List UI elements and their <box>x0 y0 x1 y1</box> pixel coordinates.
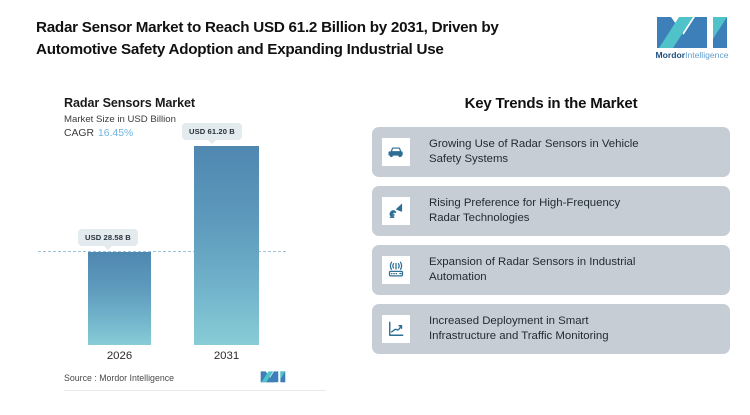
cagr-value: 16.45% <box>98 128 133 139</box>
trend-line-1: Rising Preference for High-Frequency <box>429 197 620 209</box>
chart-source: Source : Mordor Intelligence <box>64 373 334 383</box>
trend-card-high-frequency[interactable]: Rising Preference for High-Frequency Rad… <box>372 186 730 236</box>
trend-line-2: Radar Technologies <box>429 212 529 224</box>
mordor-logo-mark-icon <box>655 15 729 48</box>
panel-divider <box>64 390 326 391</box>
data-label-2031: USD 61.20 B <box>182 123 242 140</box>
page-title: Radar Sensor Market to Reach USD 61.2 Bi… <box>36 17 596 60</box>
cagr-label: CAGR <box>64 128 94 139</box>
logo-word-intelligence: Intelligence <box>685 50 728 60</box>
trend-text-high-frequency: Rising Preference for High-Frequency Rad… <box>429 196 632 226</box>
trend-line-1: Increased Deployment in Smart <box>429 315 589 327</box>
satellite-dish-icon <box>382 197 410 225</box>
cagr-row: CAGR16.45% <box>64 128 133 139</box>
mordor-logo-wordmark: MordorIntelligence <box>650 50 734 61</box>
trend-card-smart-infrastructure[interactable]: Increased Deployment in Smart Infrastruc… <box>372 304 730 354</box>
mordor-intelligence-logo: MordorIntelligence <box>650 15 734 67</box>
trend-card-vehicle-safety[interactable]: Growing Use of Radar Sensors in Vehicle … <box>372 127 730 177</box>
bar-2026 <box>88 252 151 345</box>
chart-subtitle: Market Size in USD Billion <box>64 114 176 125</box>
chart-title: Radar Sensors Market <box>64 96 195 110</box>
wireless-router-icon <box>382 256 410 284</box>
page-header: Radar Sensor Market to Reach USD 61.2 Bi… <box>0 0 750 80</box>
chart-source-text: Source : Mordor Intelligence <box>64 373 174 383</box>
trend-text-industrial-automation: Expansion of Radar Sensors in Industrial… <box>429 255 647 285</box>
trend-line-1: Expansion of Radar Sensors in Industrial <box>429 256 635 268</box>
trend-text-smart-infrastructure: Increased Deployment in Smart Infrastruc… <box>429 314 621 344</box>
x-axis-tick-2031: 2031 <box>194 350 259 362</box>
source-mordor-logo-icon <box>260 370 286 383</box>
trend-line-1: Growing Use of Radar Sensors in Vehicle <box>429 138 639 150</box>
trend-line-2: Automation <box>429 271 487 283</box>
logo-word-mordor: Mordor <box>655 50 685 60</box>
bar-2031 <box>194 146 259 345</box>
page-title-line-2: Automotive Safety Adoption and Expanding… <box>36 39 596 61</box>
trend-card-industrial-automation[interactable]: Expansion of Radar Sensors in Industrial… <box>372 245 730 295</box>
chart-panel: Radar Sensors Market Market Size in USD … <box>38 88 356 393</box>
page-title-line-1: Radar Sensor Market to Reach USD 61.2 Bi… <box>36 17 596 39</box>
trending-chart-icon <box>382 315 410 343</box>
trend-text-vehicle-safety: Growing Use of Radar Sensors in Vehicle … <box>429 137 651 167</box>
key-trends-panel: Key Trends in the Market Growing Use of … <box>372 95 730 363</box>
key-trends-title: Key Trends in the Market <box>372 95 730 112</box>
trend-line-2: Infrastructure and Traffic Monitoring <box>429 330 609 342</box>
data-label-2026: USD 28.58 B <box>78 229 138 246</box>
bar-chart-plot-area: USD 28.58 B USD 61.20 B <box>38 150 356 345</box>
trend-line-2: Safety Systems <box>429 153 508 165</box>
car-icon <box>382 138 410 166</box>
x-axis-tick-2026: 2026 <box>88 350 151 362</box>
